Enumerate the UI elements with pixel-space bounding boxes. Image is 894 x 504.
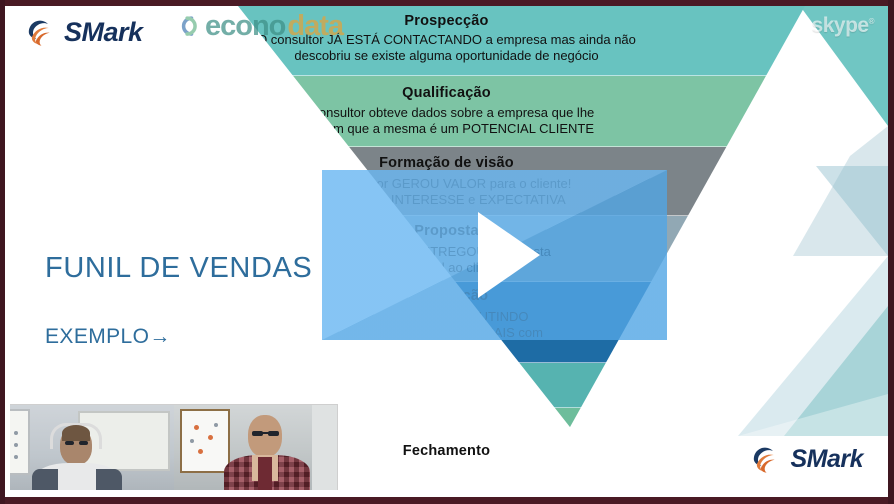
smark-logo-top: SMark [23, 16, 143, 48]
participant-video-right[interactable]: participant-right [174, 405, 338, 490]
smark-logo-bottom: SMark [748, 443, 863, 475]
smark-swirl-icon [748, 443, 782, 475]
slide-title-block: FUNIL DE VENDAS EXEMPLO→ [45, 251, 345, 349]
econo-wordmark: econo [205, 10, 285, 43]
slide-subtitle: EXEMPLO→ [45, 325, 345, 349]
skype-screenshare-window: Prospecção O consultor JÁ ESTÁ CONTACTAN… [0, 0, 894, 504]
window-frame-right [888, 0, 894, 504]
skype-watermark-label: skype [812, 14, 869, 37]
data-wordmark: data [287, 10, 343, 43]
participant-label: participant-left [13, 483, 57, 490]
skype-watermark: skype® [812, 14, 874, 38]
shared-slide: Prospecção O consultor JÁ ESTÁ CONTACTAN… [5, 6, 888, 497]
econodata-logo: econo data [173, 10, 343, 43]
video-call-thumbnails[interactable]: participant-left [10, 404, 338, 490]
smark-swirl-icon [23, 16, 57, 48]
participant-video-left[interactable]: participant-left [10, 405, 174, 490]
smark-wordmark: SMark [64, 17, 143, 48]
window-frame-bottom [0, 497, 894, 504]
econodata-loop-icon [173, 12, 203, 42]
play-icon[interactable] [478, 212, 540, 298]
smark-wordmark: SMark [790, 445, 863, 474]
participant-label: participant-right [177, 483, 225, 490]
trademark-symbol: ® [869, 17, 874, 26]
page-title: FUNIL DE VENDAS [45, 251, 345, 285]
video-play-button[interactable] [322, 170, 667, 340]
